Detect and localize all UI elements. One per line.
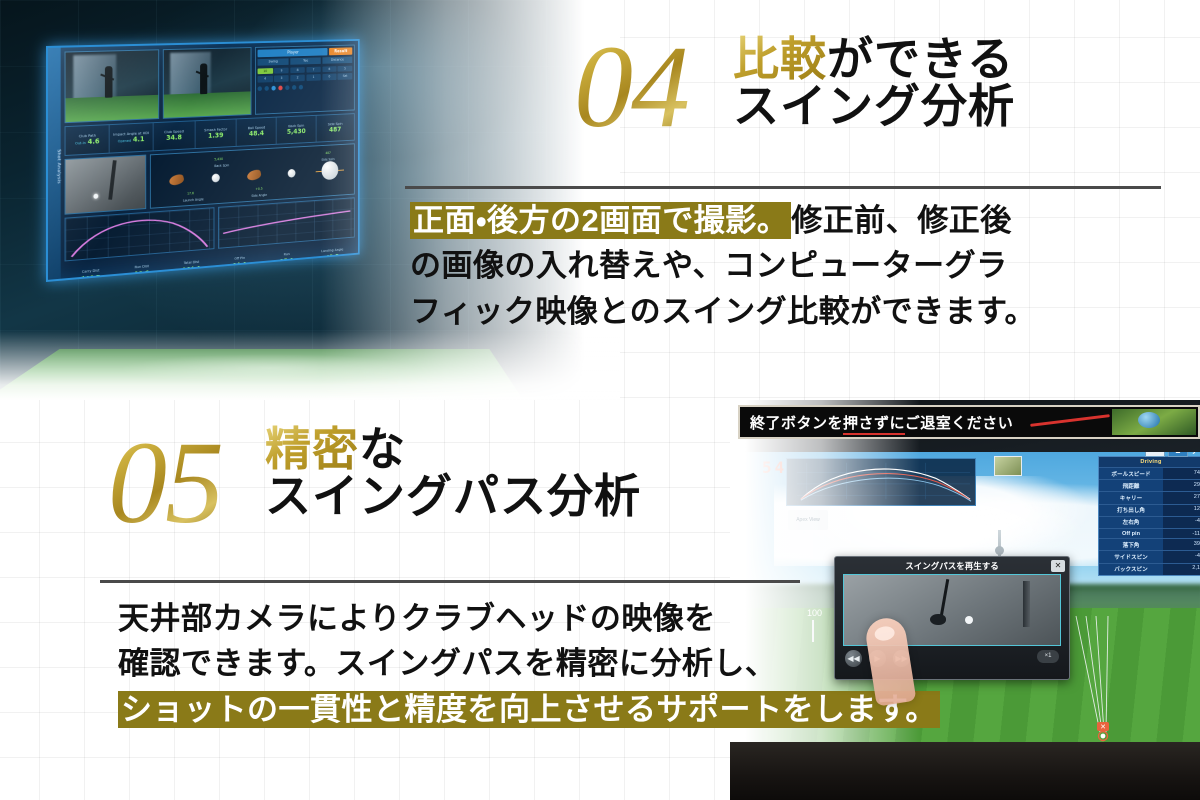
metric-club-speed: Club Speed 34.8 — [153, 121, 195, 150]
video-panels-row: Player Result Swing Tee Distance 10 9 8 — [65, 45, 355, 124]
section-04-heading: 比較ができる スイング分析 — [733, 36, 1015, 131]
heading-line-1: 比較ができる — [733, 36, 1015, 83]
apex-view-button[interactable]: Apex View — [788, 510, 828, 530]
row-value: 2,1 — [1163, 564, 1200, 575]
keypad-key[interactable]: 8 — [290, 67, 305, 74]
ball-icon — [287, 168, 295, 177]
metric-value: 1.39 — [208, 132, 223, 140]
overhead-camera-view — [65, 155, 147, 215]
metric-value-row: Opened 4.1 — [118, 136, 145, 145]
table-row: ボールスピード74 — [1099, 467, 1200, 479]
keypad-key[interactable]: 9 — [274, 67, 289, 74]
heading-black-part: な — [359, 423, 406, 475]
flight-tag-backspin: 5,430 — [214, 158, 223, 162]
banner-text: 終了ボタンを押さずにご退室ください — [750, 412, 1013, 433]
banner-arrow-icon — [1030, 414, 1110, 427]
keypad-key[interactable]: 7 — [306, 66, 321, 73]
metric-value: 48.4 — [249, 130, 264, 138]
radio-dot-red[interactable] — [278, 85, 282, 90]
row-label: 打ち出し角 — [1099, 505, 1163, 516]
control-sub-buttons: Swing Tee Distance — [258, 57, 353, 66]
keypad-key[interactable]: 10 — [258, 68, 273, 75]
flight-tag-launch: 17.6 — [187, 192, 194, 196]
section-05-heading: 精密な スイングパス分析 — [265, 426, 641, 521]
metric-side-spin: Side Spin 487 — [316, 114, 354, 142]
heading-gold-part: 比較 — [733, 33, 827, 85]
row-value: 12 — [1163, 505, 1200, 516]
metric-value: 34.8 — [166, 134, 182, 143]
radio-dot[interactable] — [285, 85, 289, 90]
undo-icon[interactable]: ↩ — [1145, 452, 1165, 457]
keypad-key[interactable]: 4 — [258, 75, 273, 82]
row-label: 飛距離 — [1099, 480, 1163, 491]
body-line-2: の画像の入れ替えや、コンピューターグラ — [410, 243, 1110, 288]
row-value: 27 — [1163, 492, 1200, 503]
golfer-silhouette — [200, 64, 207, 95]
heading-line-2: スイングパス分析 — [265, 473, 641, 520]
flight-tag-sidespin: 487 — [325, 151, 330, 155]
close-icon[interactable]: ✕ — [1051, 560, 1065, 572]
row-label: キャリー — [1099, 492, 1163, 503]
radio-dot-selected[interactable] — [271, 85, 275, 90]
section-04-body: 正面・後方の2画面で撮影。修正前、修正後 の画像の入れ替えや、コンピューターグラ… — [410, 198, 1110, 334]
metric-value-row: Out-In 4.6 — [75, 138, 100, 147]
keypad-key[interactable]: 1 — [306, 74, 321, 81]
stat-label: Run — [284, 252, 290, 256]
golfer-silhouette — [105, 66, 113, 98]
result-button[interactable]: Result — [329, 47, 352, 55]
shot-data-table: ↩ ▲ デ Driving ボールスピード74 飛距離29 キャリー27 打ち出… — [1098, 456, 1200, 576]
table-row: 落下角39 — [1099, 538, 1200, 550]
table-title: Driving — [1099, 457, 1200, 467]
radio-dot[interactable] — [292, 85, 296, 90]
keypad-key[interactable]: Set — [338, 73, 352, 80]
metric-sub: Opened — [118, 139, 131, 144]
clubface-icon — [246, 168, 262, 181]
player-label: Player — [258, 48, 328, 57]
metric-value: 4.6 — [88, 138, 100, 146]
photo-bottom-ledge — [730, 742, 1200, 800]
row-value: 39 — [1163, 539, 1200, 550]
row-label: サイドスピン — [1099, 551, 1163, 562]
row-value: 74 — [1163, 468, 1200, 479]
body-line-1: 正面・後方の2画面で撮影。修正前、修正後 — [410, 198, 1110, 243]
row-label: バックスピン — [1099, 564, 1163, 575]
table-row: 打ち出し角12 — [1099, 504, 1200, 516]
keypad-key[interactable]: 6 — [322, 66, 337, 73]
ball-flight-diagram: 5,430 Back Spin 17.6 Launch Angle +0.5 S… — [150, 143, 355, 208]
section-05-divider — [100, 580, 800, 583]
banner-text-underlined: 押さずに — [843, 415, 905, 435]
metric-value: 5,430 — [287, 128, 306, 136]
body-highlight: 正面・後方の2画面で撮影。 — [410, 202, 791, 239]
row-value: 29 — [1163, 480, 1200, 491]
metric-smash-factor: Smash Factor 1.39 — [195, 119, 236, 148]
body-line-3: フィック映像とのスイング比較ができます。 — [410, 289, 1110, 334]
section-number-05: 05 — [108, 424, 222, 542]
metric-value: 4.1 — [133, 136, 145, 144]
metric-label: Side Spin — [328, 121, 343, 125]
ball-marker — [93, 193, 98, 198]
row-label: ボールスピード — [1099, 468, 1163, 479]
section-number-04: 04 — [574, 28, 688, 146]
video-floor — [163, 92, 250, 118]
row-value: -4 — [1163, 551, 1200, 562]
row-label: 落下角 — [1099, 539, 1163, 550]
radio-dot[interactable] — [258, 86, 262, 91]
banner-text-pre: 終了ボタンを — [750, 415, 843, 432]
vertical-post — [1023, 581, 1030, 627]
clubhead — [930, 614, 946, 625]
metric-label: Smash Factor — [204, 127, 227, 132]
club-shaft — [108, 160, 116, 199]
row-label: Off pin — [1099, 529, 1163, 538]
sub-button-tee[interactable]: Tee — [290, 58, 320, 65]
golf-ball — [965, 616, 973, 624]
radio-option-row — [258, 83, 353, 91]
metric-club-path: Club Path Out-In 4.6 — [66, 125, 110, 155]
control-panel: Player Result Swing Tee Distance 10 9 8 — [255, 45, 355, 115]
club-selection-icon[interactable] — [994, 456, 1022, 476]
banner-thumbnail — [1112, 409, 1196, 435]
photo-bottom-fade — [0, 330, 620, 400]
section-04-divider — [405, 186, 1161, 189]
metric-sub: Out-In — [75, 142, 86, 146]
flight-label-sideangle: Side Angle — [251, 193, 267, 198]
toolbar-label: デ — [1191, 452, 1199, 456]
flight-label-sidespin: Side Spin — [321, 157, 334, 161]
sub-button-distance[interactable]: Distance — [322, 57, 352, 64]
row-label: 左右角 — [1099, 517, 1163, 528]
banner-text-post: ご退室ください — [905, 415, 1014, 432]
radio-dot[interactable] — [299, 84, 303, 89]
simulator-projection-screen: Shot Analysis Player — [46, 39, 360, 282]
table-row: Off pin-11 — [1099, 528, 1200, 538]
metric-ball-speed: Ball Speed 48.4 — [237, 118, 277, 146]
body-highlight: ショットの一貫性と精度を向上させるサポートをします。 — [118, 691, 940, 728]
table-row: バックスピン2,1 — [1099, 563, 1200, 575]
numeric-keypad: 10 9 8 7 6 5 4 3 2 1 0 Set — [258, 65, 353, 82]
club-shaft — [940, 579, 950, 617]
shot-analysis-side-tab: Shot Analysis — [48, 48, 61, 280]
globe-icon — [1138, 412, 1160, 428]
feature-section-05: 終了ボタンを押さずにご退室ください 90 54 — [0, 400, 1200, 800]
simulator-ui: Player Result Swing Tee Distance 10 9 8 — [61, 41, 358, 279]
table-row: サイドスピン-4 — [1099, 550, 1200, 562]
keypad-key[interactable]: 0 — [322, 73, 337, 80]
flight-label-backspin: Back Spin — [214, 163, 229, 168]
score-display: 90 54 — [730, 458, 787, 477]
feature-section-04: Shot Analysis Player — [0, 0, 1200, 400]
keypad-key[interactable]: 2 — [290, 74, 305, 81]
rear-view-video — [162, 47, 251, 119]
playback-speed-badge[interactable]: ×1 — [1037, 650, 1059, 663]
heading-gold-part: 精密 — [265, 423, 359, 475]
screen-toolbar: ↩ ▲ デ — [1145, 452, 1199, 457]
clubhead-icon — [168, 173, 184, 187]
spin-ball-icon — [321, 161, 338, 180]
keypad-key[interactable]: 5 — [338, 65, 352, 72]
upload-icon[interactable]: ▲ — [1168, 452, 1188, 457]
sub-button-swing[interactable]: Swing — [258, 58, 289, 65]
ball-icon — [211, 173, 219, 182]
exit-notice-banner: 終了ボタンを押さずにご退室ください — [738, 405, 1200, 439]
radio-dot[interactable] — [265, 86, 269, 91]
trajectory-graph-top — [218, 197, 355, 249]
metric-impact-angle: Impact Angle at HDI Opened 4.1 — [110, 123, 153, 152]
row-value: -11 — [1163, 529, 1200, 538]
table-row: 飛距離29 — [1099, 479, 1200, 491]
table-row: キャリー27 — [1099, 491, 1200, 503]
keypad-key[interactable]: 3 — [274, 75, 289, 82]
video-floor — [66, 95, 158, 122]
svg-text:✕: ✕ — [1100, 724, 1106, 731]
heading-line-1: 精密な — [265, 426, 641, 473]
metric-back-spin: Back Spin 5,430 — [277, 116, 316, 144]
dialog-title-bar: スイングパスを再生する ✕ — [835, 557, 1069, 574]
flight-tag-sideangle: +0.5 — [255, 187, 262, 191]
flight-label-launch: Launch Angle — [183, 197, 204, 202]
heading-line-2: スイング分析 — [733, 83, 1015, 130]
control-panel-header: Player Result — [258, 47, 353, 57]
dialog-title: スイングパスを再生する — [905, 560, 999, 572]
row-value: -4 — [1163, 517, 1200, 528]
rewind-icon[interactable]: ◀◀ — [845, 650, 862, 667]
stat-label: Landing Angle — [321, 247, 343, 253]
table-row: 左右角-4 — [1099, 516, 1200, 528]
stat-value: 43.5 — [326, 252, 339, 261]
metric-value: 487 — [329, 126, 341, 134]
heading-black-part: ができる — [827, 33, 1014, 85]
apex-trajectory-chart — [786, 458, 976, 506]
body-text: 修正前、修正後 — [791, 203, 1012, 238]
front-view-video — [65, 49, 159, 123]
